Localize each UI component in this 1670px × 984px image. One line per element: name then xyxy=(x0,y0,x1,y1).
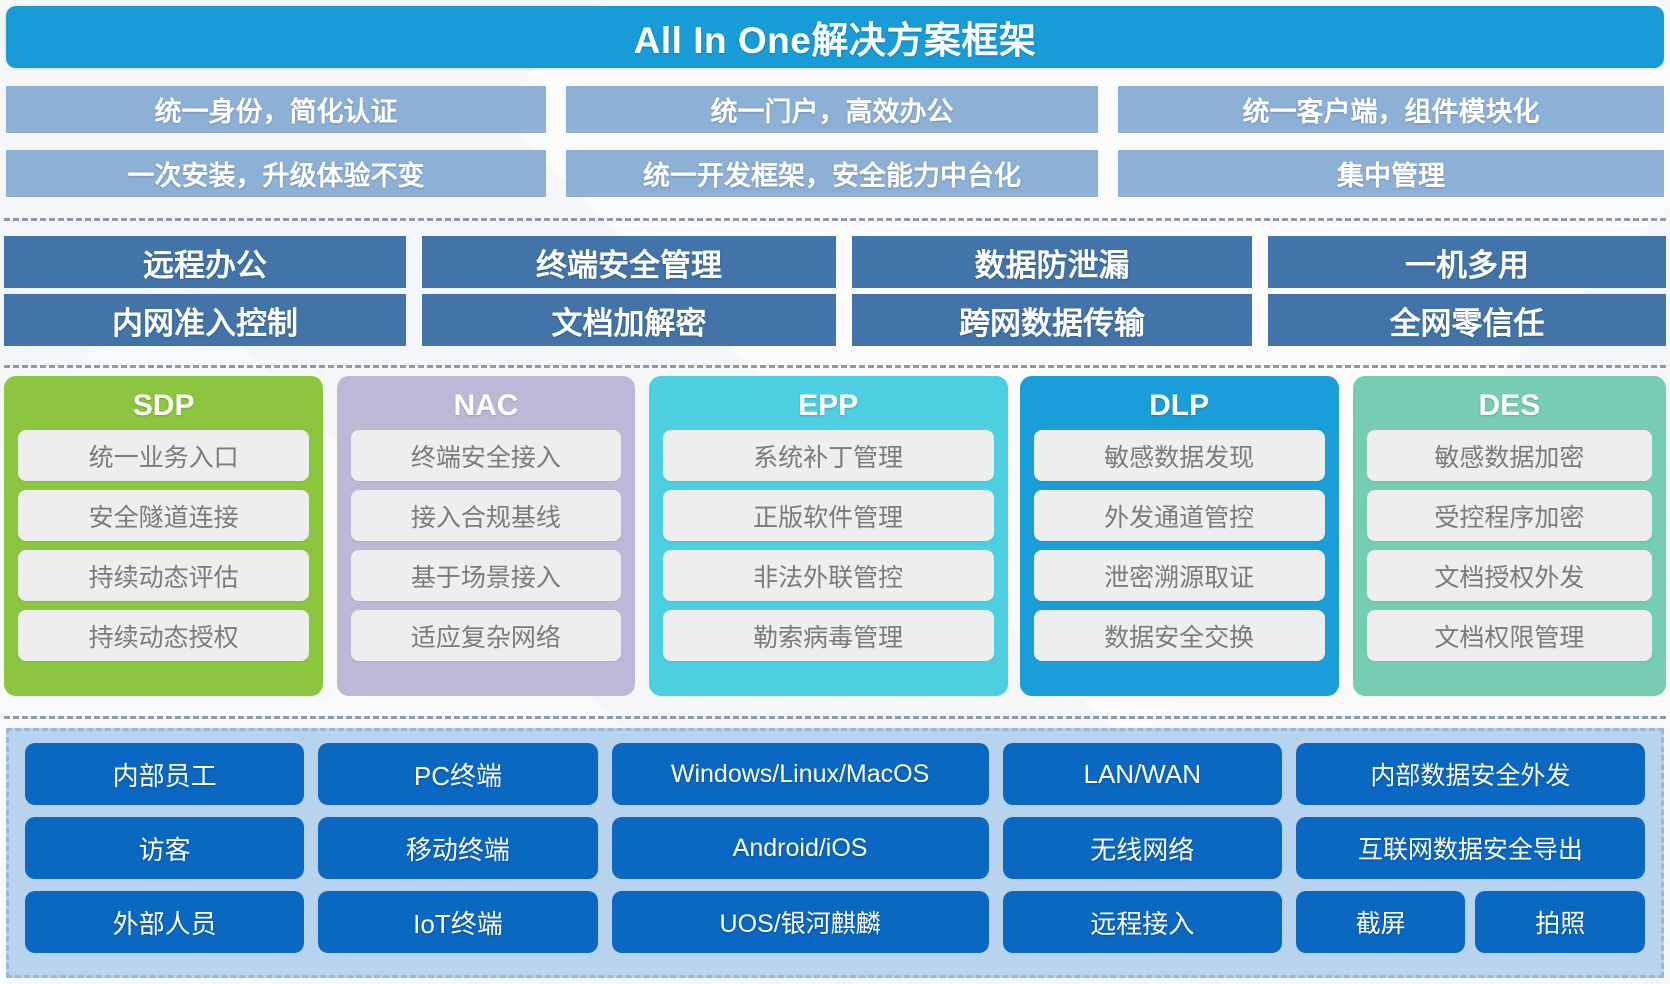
capability-column-sdp[interactable]: SDP 统一业务入口 安全隧道连接 持续动态评估 持续动态授权 xyxy=(4,376,323,696)
capability-column-title: DES xyxy=(1367,384,1652,430)
capability-column-des[interactable]: DES 敏感数据加密 受控程序加密 文档授权外发 文档权限管理 xyxy=(1353,376,1666,696)
capability-item[interactable]: 泄密溯源取证 xyxy=(1034,550,1325,601)
value-bar[interactable]: 一次安装，升级体验不变 xyxy=(6,150,546,197)
scenario-bar[interactable]: 跨网数据传输 xyxy=(852,294,1252,346)
capability-item[interactable]: 外发通道管控 xyxy=(1034,490,1325,541)
value-bar[interactable]: 统一客户端，组件模块化 xyxy=(1118,86,1664,133)
scenario-row-1: 远程办公 终端安全管理 数据防泄漏 一机多用 xyxy=(4,236,1666,288)
value-proposition-row-2: 一次安装，升级体验不变 统一开发框架，安全能力中台化 集中管理 xyxy=(6,150,1664,197)
resource-tile[interactable]: 无线网络 xyxy=(1003,817,1282,879)
capability-column-title: SDP xyxy=(18,384,309,430)
capability-item[interactable]: 文档权限管理 xyxy=(1367,610,1652,661)
capability-column-epp[interactable]: EPP 系统补丁管理 正版软件管理 非法外联管控 勒索病毒管理 xyxy=(649,376,1008,696)
resource-tile[interactable]: UOS/银河麒麟 xyxy=(612,891,989,953)
section-divider-top xyxy=(4,218,1666,221)
capability-item-list: 敏感数据发现 外发通道管控 泄密溯源取证 数据安全交换 xyxy=(1034,430,1325,684)
capability-item[interactable]: 统一业务入口 xyxy=(18,430,309,481)
section-divider-bottom xyxy=(4,716,1666,719)
resource-column-os: Windows/Linux/MacOS Android/iOS UOS/银河麒麟 xyxy=(612,743,989,963)
capability-item[interactable]: 持续动态授权 xyxy=(18,610,309,661)
scenario-bar[interactable]: 数据防泄漏 xyxy=(852,236,1252,288)
resource-tile[interactable]: PC终端 xyxy=(318,743,597,805)
capability-item[interactable]: 基于场景接入 xyxy=(351,550,620,601)
capability-item-list: 系统补丁管理 正版软件管理 非法外联管控 勒索病毒管理 xyxy=(663,430,994,684)
capability-item[interactable]: 数据安全交换 xyxy=(1034,610,1325,661)
resource-column-network: LAN/WAN 无线网络 远程接入 xyxy=(1003,743,1282,963)
capability-column-dlp[interactable]: DLP 敏感数据发现 外发通道管控 泄密溯源取证 数据安全交换 xyxy=(1020,376,1339,696)
value-bar[interactable]: 集中管理 xyxy=(1118,150,1664,197)
scenario-bar[interactable]: 远程办公 xyxy=(4,236,406,288)
resource-tile[interactable]: 截屏 xyxy=(1296,891,1466,953)
scenario-bar[interactable]: 终端安全管理 xyxy=(422,236,836,288)
resource-tile[interactable]: 拍照 xyxy=(1475,891,1645,953)
diagram-title-bar: All In One解决方案框架 xyxy=(6,6,1664,68)
capability-item[interactable]: 终端安全接入 xyxy=(351,430,620,481)
capability-item[interactable]: 安全隧道连接 xyxy=(18,490,309,541)
section-divider-middle xyxy=(4,365,1666,368)
value-proposition-row-1: 统一身份，简化认证 统一门户，高效办公 统一客户端，组件模块化 xyxy=(6,86,1664,133)
resource-tile[interactable]: 远程接入 xyxy=(1003,891,1282,953)
scenario-bar[interactable]: 文档加解密 xyxy=(422,294,836,346)
capability-columns: SDP 统一业务入口 安全隧道连接 持续动态评估 持续动态授权 NAC 终端安全… xyxy=(4,376,1666,696)
scenario-row-2: 内网准入控制 文档加解密 跨网数据传输 全网零信任 xyxy=(4,294,1666,346)
capability-item[interactable]: 勒索病毒管理 xyxy=(663,610,994,661)
value-bar[interactable]: 统一开发框架，安全能力中台化 xyxy=(566,150,1098,197)
capability-item[interactable]: 非法外联管控 xyxy=(663,550,994,601)
scenario-bar[interactable]: 一机多用 xyxy=(1268,236,1666,288)
resource-tile-split-group: 截屏 拍照 xyxy=(1296,891,1645,953)
resource-tile[interactable]: IoT终端 xyxy=(318,891,597,953)
resource-tile[interactable]: 访客 xyxy=(25,817,304,879)
value-bar[interactable]: 统一门户，高效办公 xyxy=(566,86,1098,133)
resource-tile[interactable]: 互联网数据安全导出 xyxy=(1296,817,1645,879)
resource-tile[interactable]: LAN/WAN xyxy=(1003,743,1282,805)
capability-column-title: NAC xyxy=(351,384,620,430)
capability-item-list: 敏感数据加密 受控程序加密 文档授权外发 文档权限管理 xyxy=(1367,430,1652,684)
scenario-bar[interactable]: 内网准入控制 xyxy=(4,294,406,346)
solution-framework-diagram: All In One解决方案框架 统一身份，简化认证 统一门户，高效办公 统一客… xyxy=(0,0,1670,984)
capability-column-title: EPP xyxy=(663,384,994,430)
capability-item[interactable]: 正版软件管理 xyxy=(663,490,994,541)
value-bar[interactable]: 统一身份，简化认证 xyxy=(6,86,546,133)
capability-column-title: DLP xyxy=(1034,384,1325,430)
capability-item[interactable]: 受控程序加密 xyxy=(1367,490,1652,541)
resource-column-device: PC终端 移动终端 IoT终端 xyxy=(318,743,597,963)
capability-item[interactable]: 系统补丁管理 xyxy=(663,430,994,481)
resource-tile[interactable]: Android/iOS xyxy=(612,817,989,879)
capability-item-list: 终端安全接入 接入合规基线 基于场景接入 适应复杂网络 xyxy=(351,430,620,684)
page-title: All In One解决方案框架 xyxy=(634,10,1037,64)
resource-tile[interactable]: 内部员工 xyxy=(25,743,304,805)
capability-column-nac[interactable]: NAC 终端安全接入 接入合规基线 基于场景接入 适应复杂网络 xyxy=(337,376,634,696)
capability-item-list: 统一业务入口 安全隧道连接 持续动态评估 持续动态授权 xyxy=(18,430,309,684)
resource-tile[interactable]: 移动终端 xyxy=(318,817,597,879)
resource-panel: 内部员工 访客 外部人员 PC终端 移动终端 IoT终端 Windows/Lin… xyxy=(6,728,1664,978)
capability-item[interactable]: 敏感数据加密 xyxy=(1367,430,1652,481)
scenario-bar[interactable]: 全网零信任 xyxy=(1268,294,1666,346)
resource-tile[interactable]: Windows/Linux/MacOS xyxy=(612,743,989,805)
resource-tile[interactable]: 外部人员 xyxy=(25,891,304,953)
resource-column-scenario: 内部数据安全外发 互联网数据安全导出 截屏 拍照 xyxy=(1296,743,1645,963)
resource-tile[interactable]: 内部数据安全外发 xyxy=(1296,743,1645,805)
capability-item[interactable]: 持续动态评估 xyxy=(18,550,309,601)
capability-item[interactable]: 敏感数据发现 xyxy=(1034,430,1325,481)
resource-column-identity: 内部员工 访客 外部人员 xyxy=(25,743,304,963)
capability-item[interactable]: 文档授权外发 xyxy=(1367,550,1652,601)
capability-item[interactable]: 接入合规基线 xyxy=(351,490,620,541)
capability-item[interactable]: 适应复杂网络 xyxy=(351,610,620,661)
